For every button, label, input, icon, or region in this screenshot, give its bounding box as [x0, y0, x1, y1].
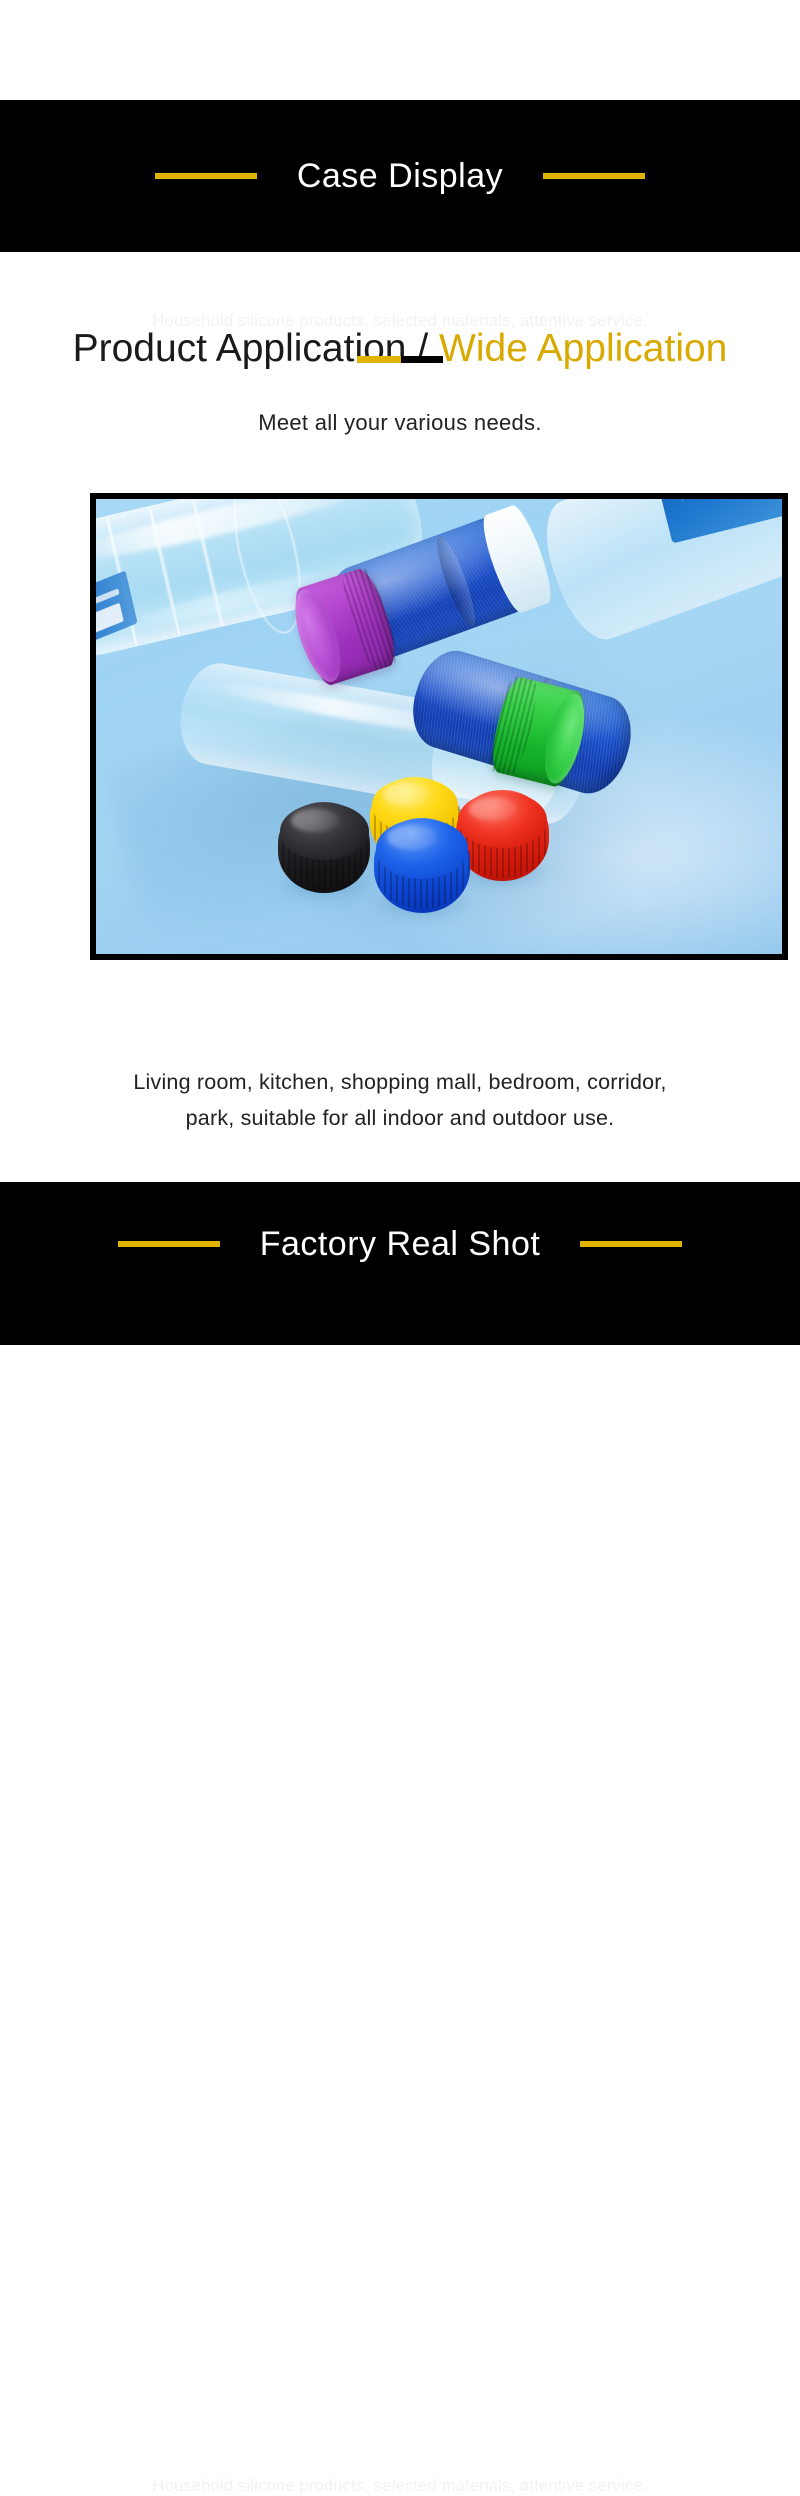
case-display-banner: Case Display Household silicone products… — [0, 100, 800, 252]
banner-rule-left-icon — [118, 1241, 220, 1247]
page-subtitle: Meet all your various needs. — [0, 407, 800, 439]
product-detail-page: Case Display Household silicone products… — [0, 0, 800, 1345]
application-description-line-1: Living room, kitchen, shopping mall, bed… — [0, 1064, 800, 1100]
divider-gold-segment — [357, 356, 401, 363]
application-description: Living room, kitchen, shopping mall, bed… — [0, 1064, 800, 1136]
blue-cap-highlight — [387, 825, 437, 850]
factory-real-shot-title-row: Factory Real Shot — [0, 1224, 800, 1264]
page-title-accent: Wide Application — [439, 327, 727, 370]
case-display-title-row: Case Display — [0, 156, 800, 196]
page-title: Product Application / Wide Application — [0, 325, 800, 373]
banner-rule-right-icon — [580, 1241, 682, 1247]
application-description-line-2: park, suitable for all indoor and outdoo… — [0, 1100, 800, 1136]
factory-real-shot-title: Factory Real Shot — [260, 1224, 541, 1264]
product-photo-frame — [90, 493, 788, 960]
banner-rule-right-icon — [543, 173, 645, 179]
divider-black-segment — [401, 356, 443, 363]
blue-cap — [374, 818, 470, 914]
top-whitespace — [0, 0, 800, 100]
page-title-separator: / — [417, 327, 428, 370]
case-display-title: Case Display — [297, 156, 503, 196]
factory-real-shot-subtitle: Household silicone products, selected ma… — [0, 2477, 800, 2496]
product-photo — [96, 499, 782, 954]
yellow-cap-highlight — [383, 783, 429, 805]
black-cap — [278, 802, 371, 893]
factory-real-shot-banner: Factory Real Shot Household silicone pro… — [0, 1182, 800, 1345]
page-title-primary: Product Application — [73, 327, 407, 370]
red-cap — [456, 790, 549, 881]
heading-divider — [357, 356, 443, 363]
banner-rule-left-icon — [155, 173, 257, 179]
